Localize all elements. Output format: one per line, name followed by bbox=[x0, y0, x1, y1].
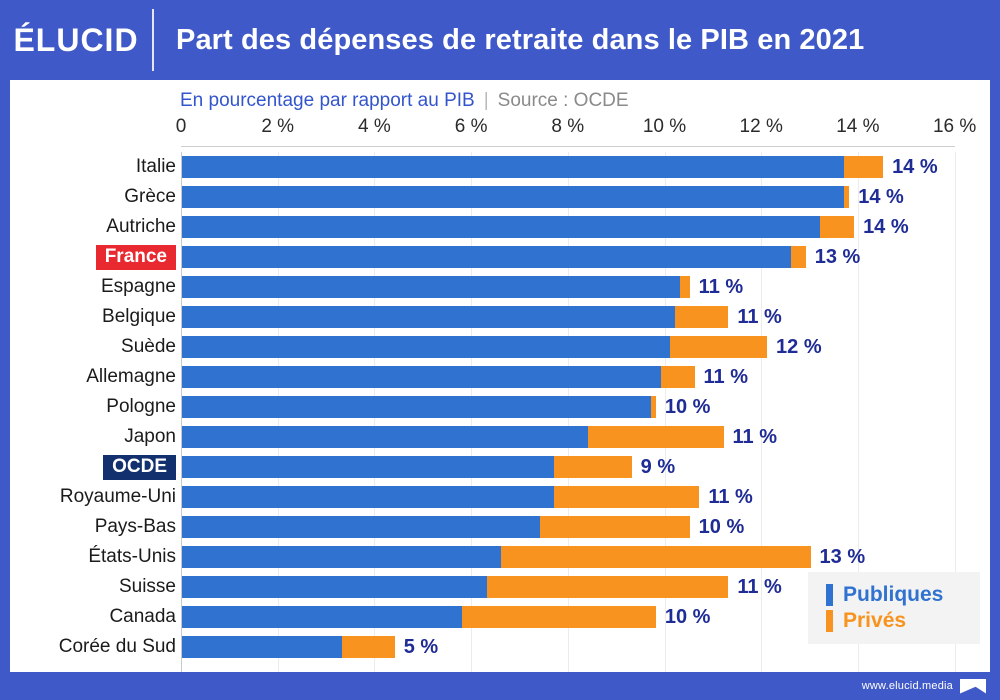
stacked-bar bbox=[182, 426, 724, 448]
stacked-bar bbox=[182, 396, 656, 418]
bar-row: États-Unis13 % bbox=[10, 542, 990, 572]
bar-row: Italie14 % bbox=[10, 152, 990, 182]
bar-segment-prives bbox=[554, 456, 631, 478]
source-text: Source : OCDE bbox=[498, 90, 629, 112]
bar-value-label: 11 % bbox=[737, 576, 781, 598]
brand-logo: ÉLUCID bbox=[0, 22, 152, 59]
axis-tick-label: 8 % bbox=[551, 116, 584, 138]
bar-row-label--tats-unis: États-Unis bbox=[0, 546, 176, 568]
bar-segment-prives bbox=[844, 186, 849, 208]
bar-value-label: 11 % bbox=[733, 426, 777, 448]
bar-row-label-belgique: Belgique bbox=[0, 306, 176, 328]
bar-segment-prives bbox=[820, 216, 854, 238]
bar-row-label-espagne: Espagne bbox=[0, 276, 176, 298]
bar-segment-publiques bbox=[182, 516, 540, 538]
bar-value-label: 10 % bbox=[699, 516, 745, 538]
bar-segment-publiques bbox=[182, 246, 791, 268]
bar-segment-prives bbox=[501, 546, 810, 568]
bar-segment-publiques bbox=[182, 426, 588, 448]
chart-canvas: En pourcentage par rapport au PIB | Sour… bbox=[10, 80, 990, 672]
bar-row-label-allemagne: Allemagne bbox=[0, 366, 176, 388]
axis-tick-label: 4 % bbox=[358, 116, 391, 138]
bar-segment-publiques bbox=[182, 276, 680, 298]
bar-segment-prives bbox=[342, 636, 395, 658]
bar-value-label: 14 % bbox=[892, 156, 938, 178]
bar-segment-prives bbox=[554, 486, 699, 508]
bar-row-label-italie: Italie bbox=[0, 156, 176, 178]
bar-segment-publiques bbox=[182, 306, 675, 328]
stacked-bar bbox=[182, 636, 395, 658]
bar-segment-prives bbox=[661, 366, 695, 388]
highlight-chip: France bbox=[96, 245, 176, 270]
legend-label-publiques: Publiques bbox=[843, 583, 943, 607]
axis-tick-label: 14 % bbox=[836, 116, 879, 138]
bar-row-label-ocde: OCDE bbox=[0, 455, 176, 480]
subtitle-row: En pourcentage par rapport au PIB | Sour… bbox=[180, 90, 629, 112]
bar-value-label: 11 % bbox=[704, 366, 748, 388]
bar-row-label-suisse: Suisse bbox=[0, 576, 176, 598]
bar-value-label: 11 % bbox=[737, 306, 781, 328]
footer-url: www.elucid.media bbox=[862, 680, 953, 692]
bar-row-label-france: France bbox=[0, 245, 176, 270]
infographic-page: ÉLUCID Part des dépenses de retraite dan… bbox=[0, 0, 1000, 700]
bar-row: Suède12 % bbox=[10, 332, 990, 362]
bar-segment-prives bbox=[844, 156, 883, 178]
bar-value-label: 13 % bbox=[820, 546, 866, 568]
bar-value-label: 10 % bbox=[665, 606, 711, 628]
bar-row-label-pologne: Pologne bbox=[0, 396, 176, 418]
chart-legend: Publiques Privés bbox=[808, 572, 980, 644]
bar-row: Pays-Bas10 % bbox=[10, 512, 990, 542]
bar-segment-publiques bbox=[182, 546, 501, 568]
legend-item-publiques: Publiques bbox=[826, 582, 980, 608]
stacked-bar bbox=[182, 516, 690, 538]
bar-segment-publiques bbox=[182, 606, 462, 628]
bar-row: Allemagne11 % bbox=[10, 362, 990, 392]
bar-segment-prives bbox=[680, 276, 690, 298]
x-axis-line bbox=[181, 146, 955, 147]
header-bar: ÉLUCID Part des dépenses de retraite dan… bbox=[0, 0, 1000, 80]
highlight-chip: OCDE bbox=[103, 455, 176, 480]
stacked-bar bbox=[182, 186, 849, 208]
axis-tick-label: 0 bbox=[176, 116, 187, 138]
stacked-bar bbox=[182, 486, 699, 508]
bar-row-label-pays-bas: Pays-Bas bbox=[0, 516, 176, 538]
axis-tick-label: 2 % bbox=[261, 116, 294, 138]
bar-segment-prives bbox=[791, 246, 806, 268]
bar-row: Grèce14 % bbox=[10, 182, 990, 212]
axis-tick-label: 16 % bbox=[933, 116, 976, 138]
bar-row-label-royaume-uni: Royaume-Uni bbox=[0, 486, 176, 508]
bar-segment-prives bbox=[540, 516, 690, 538]
stacked-bar bbox=[182, 456, 632, 478]
bar-row: France13 % bbox=[10, 242, 990, 272]
bar-segment-prives bbox=[670, 336, 767, 358]
stacked-bar bbox=[182, 216, 854, 238]
subtitle-text: En pourcentage par rapport au PIB bbox=[180, 90, 475, 112]
stacked-bar bbox=[182, 276, 690, 298]
bar-value-label: 11 % bbox=[708, 486, 752, 508]
bar-row: OCDE9 % bbox=[10, 452, 990, 482]
bar-segment-prives bbox=[675, 306, 728, 328]
x-axis: 02 %4 %6 %8 %10 %12 %14 %16 % bbox=[10, 116, 990, 150]
stacked-bar bbox=[182, 336, 767, 358]
plot-area: Italie14 %Grèce14 %Autriche14 %France13 … bbox=[10, 152, 990, 672]
stacked-bar bbox=[182, 366, 695, 388]
bar-row-label-autriche: Autriche bbox=[0, 216, 176, 238]
bar-segment-publiques bbox=[182, 186, 844, 208]
bar-value-label: 5 % bbox=[404, 636, 438, 658]
bar-segment-prives bbox=[588, 426, 723, 448]
elucid-arrow-icon bbox=[960, 679, 986, 694]
bar-segment-publiques bbox=[182, 336, 670, 358]
bar-segment-prives bbox=[462, 606, 655, 628]
stacked-bar bbox=[182, 306, 728, 328]
bar-row-label-canada: Canada bbox=[0, 606, 176, 628]
bar-segment-publiques bbox=[182, 156, 844, 178]
page-title: Part des dépenses de retraite dans le PI… bbox=[154, 24, 1000, 57]
bar-row-label-gr-ce: Grèce bbox=[0, 186, 176, 208]
bar-segment-publiques bbox=[182, 456, 554, 478]
stacked-bar bbox=[182, 576, 728, 598]
legend-item-prives: Privés bbox=[826, 608, 980, 634]
subtitle-separator: | bbox=[484, 90, 489, 112]
bar-segment-prives bbox=[651, 396, 656, 418]
footer-bar: www.elucid.media bbox=[0, 672, 1000, 700]
bar-segment-publiques bbox=[182, 366, 661, 388]
bar-row: Royaume-Uni11 % bbox=[10, 482, 990, 512]
bar-segment-publiques bbox=[182, 636, 342, 658]
bar-value-label: 9 % bbox=[641, 456, 675, 478]
legend-swatch-private-icon bbox=[826, 610, 833, 632]
legend-swatch-public-icon bbox=[826, 584, 833, 606]
bar-segment-prives bbox=[487, 576, 729, 598]
bar-row: Espagne11 % bbox=[10, 272, 990, 302]
brand-divider bbox=[152, 9, 154, 71]
bar-value-label: 14 % bbox=[863, 216, 909, 238]
stacked-bar bbox=[182, 546, 811, 568]
legend-label-prives: Privés bbox=[843, 609, 906, 633]
bar-segment-publiques bbox=[182, 486, 554, 508]
bar-row-label-cor-e-du-sud: Corée du Sud bbox=[0, 636, 176, 658]
bar-value-label: 10 % bbox=[665, 396, 711, 418]
axis-tick-label: 6 % bbox=[455, 116, 488, 138]
bar-value-label: 11 % bbox=[699, 276, 743, 298]
bar-value-label: 14 % bbox=[858, 186, 904, 208]
bar-row: Belgique11 % bbox=[10, 302, 990, 332]
bar-value-label: 12 % bbox=[776, 336, 822, 358]
bar-row: Japon11 % bbox=[10, 422, 990, 452]
bar-segment-publiques bbox=[182, 396, 651, 418]
bar-segment-publiques bbox=[182, 576, 487, 598]
axis-tick-label: 12 % bbox=[740, 116, 783, 138]
bar-segment-publiques bbox=[182, 216, 820, 238]
bar-row-label-japon: Japon bbox=[0, 426, 176, 448]
stacked-bar bbox=[182, 606, 656, 628]
stacked-bar bbox=[182, 156, 883, 178]
bar-value-label: 13 % bbox=[815, 246, 861, 268]
stacked-bar bbox=[182, 246, 806, 268]
bar-row: Pologne10 % bbox=[10, 392, 990, 422]
bar-row: Autriche14 % bbox=[10, 212, 990, 242]
axis-tick-label: 10 % bbox=[643, 116, 686, 138]
bar-row-label-su-de: Suède bbox=[0, 336, 176, 358]
